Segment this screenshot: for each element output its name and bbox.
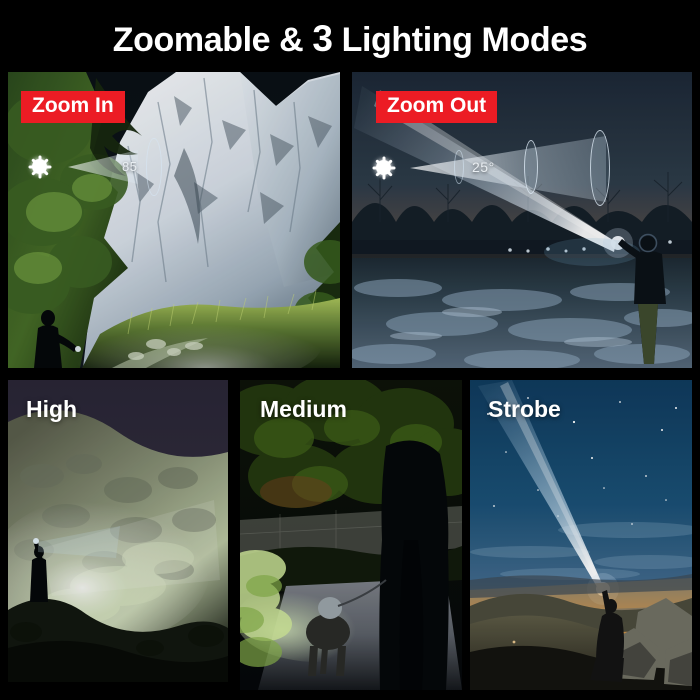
title-number: 3 xyxy=(312,18,332,59)
title-text-part2: Lighting Modes xyxy=(333,21,588,59)
lens-ring-mid-icon xyxy=(524,140,538,194)
badge-zoom-in-label: Zoom In xyxy=(32,94,114,117)
page-title: Zoomable & 3 Lighting Modes xyxy=(0,18,700,60)
lens-ring-far-icon xyxy=(590,130,610,206)
label-medium-text: Medium xyxy=(260,396,347,422)
medium-scene xyxy=(240,380,462,690)
badge-zoom-out-label: Zoom Out xyxy=(387,94,486,117)
sun-icon xyxy=(32,159,47,174)
badge-zoom-in: Zoom In xyxy=(21,91,125,123)
sun-icon xyxy=(376,160,391,175)
panel-high[interactable]: High xyxy=(8,380,228,682)
label-high: High xyxy=(26,398,77,421)
beam-angle-zoom-out: 25° xyxy=(472,159,495,175)
label-strobe-text: Strobe xyxy=(488,396,561,422)
panel-zoom-in[interactable]: Zoom In 85 xyxy=(8,72,340,368)
beam-diagram-zoom-in: 85 xyxy=(24,132,224,202)
label-medium: Medium xyxy=(260,398,347,421)
panel-strobe[interactable]: Strobe xyxy=(470,380,692,690)
panel-zoom-out[interactable]: Zoom Out 25° xyxy=(352,72,692,368)
product-feature-graphic: Zoomable & 3 Lighting Modes xyxy=(0,0,700,700)
lens-tube-icon-near xyxy=(454,150,464,184)
badge-zoom-out: Zoom Out xyxy=(376,91,497,123)
title-text-part1: Zoomable & xyxy=(113,21,313,59)
high-scene xyxy=(8,380,228,682)
beam-diagram-zoom-out: 25° xyxy=(366,126,656,210)
lens-tube-icon xyxy=(146,138,162,196)
label-strobe: Strobe xyxy=(488,398,561,421)
strobe-scene xyxy=(470,380,692,690)
beam-angle-zoom-in: 85 xyxy=(122,159,137,174)
panel-medium[interactable]: Medium xyxy=(240,380,462,690)
label-high-text: High xyxy=(26,396,77,422)
